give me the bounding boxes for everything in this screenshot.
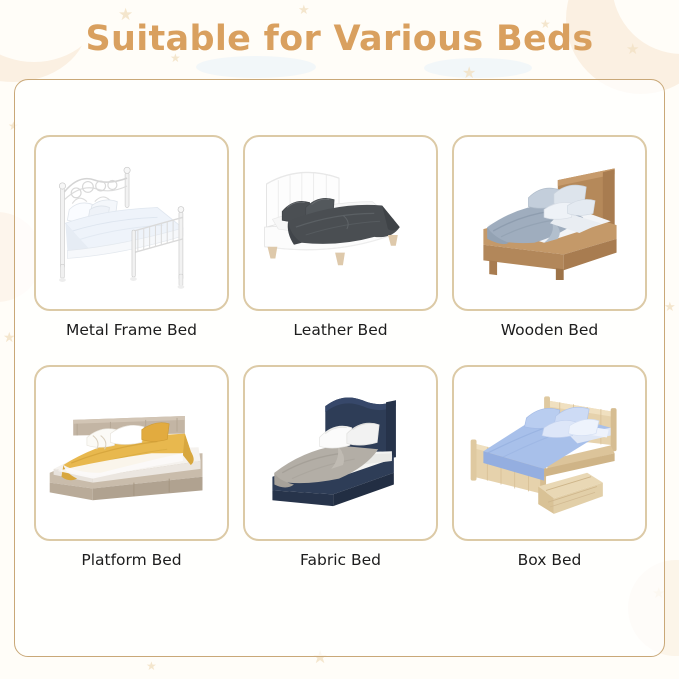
bed-cell-fabric-bed[interactable]: Fabric Bed — [243, 365, 438, 569]
bed-caption-metal-frame-bed: Metal Frame Bed — [34, 321, 229, 339]
bed-cell-platform-bed[interactable]: Platform Bed — [34, 365, 229, 569]
platform-bed-illustration — [36, 367, 227, 539]
cloud-decor-top-center — [196, 56, 316, 78]
bed-card-leather-bed[interactable] — [243, 135, 438, 311]
fabric-bed-illustration — [245, 367, 436, 539]
page-title: Suitable for Various Beds — [0, 0, 679, 59]
bed-card-fabric-bed[interactable] — [243, 365, 438, 541]
gallery-panel: Metal Frame Bed — [14, 79, 665, 657]
bed-cell-metal-frame-bed[interactable]: Metal Frame Bed — [34, 135, 229, 339]
bed-caption-fabric-bed: Fabric Bed — [243, 551, 438, 569]
bed-caption-platform-bed: Platform Bed — [34, 551, 229, 569]
star-decor-8: ★ — [664, 300, 676, 313]
bed-card-metal-frame-bed[interactable] — [34, 135, 229, 311]
leather-bed-illustration — [245, 137, 436, 309]
bed-cell-box-bed[interactable]: Box Bed — [452, 365, 647, 569]
cloud-decor-top-right — [424, 58, 532, 78]
metal-frame-bed-illustration — [36, 137, 227, 309]
bed-caption-leather-bed: Leather Bed — [243, 321, 438, 339]
bed-cell-wooden-bed[interactable]: Wooden Bed — [452, 135, 647, 339]
box-bed-illustration — [454, 367, 645, 539]
bed-card-platform-bed[interactable] — [34, 365, 229, 541]
bed-caption-box-bed: Box Bed — [452, 551, 647, 569]
bed-grid: Metal Frame Bed — [34, 135, 647, 569]
bed-caption-wooden-bed: Wooden Bed — [452, 321, 647, 339]
star-decor-11: ★ — [146, 660, 157, 672]
bed-cell-leather-bed[interactable]: Leather Bed — [243, 135, 438, 339]
bed-card-box-bed[interactable] — [452, 365, 647, 541]
wooden-bed-illustration — [454, 137, 645, 309]
bed-card-wooden-bed[interactable] — [452, 135, 647, 311]
